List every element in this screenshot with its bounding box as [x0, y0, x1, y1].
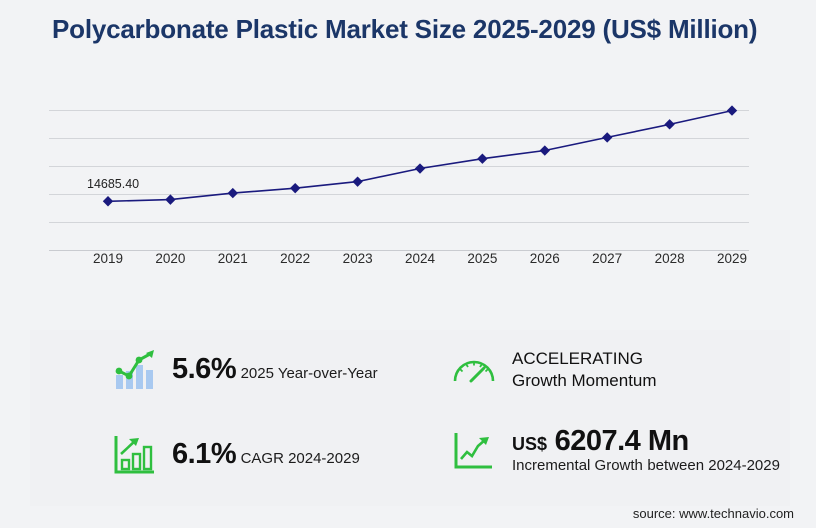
metric-amount: 6207.4 Mn	[555, 425, 689, 457]
data-point-2020	[165, 194, 175, 204]
x-tick-2020: 2020	[140, 251, 200, 266]
bar-line-growth-icon	[110, 345, 158, 393]
metric-caption-line2: between 2024-2029	[647, 457, 780, 474]
data-point-2023	[352, 176, 362, 186]
metric-value: US$ 6207.4 Mn	[512, 425, 689, 457]
data-label-2019: 14685.40	[87, 177, 139, 191]
metric-growth-momentum: ACCELERATING Growth Momentum	[450, 346, 790, 394]
page-title: Polycarbonate Plastic Market Size 2025-2…	[52, 14, 757, 45]
x-tick-2019: 2019	[78, 251, 138, 266]
data-point-2025	[477, 154, 487, 164]
chart-plot-area: 14685.40	[49, 88, 749, 253]
data-point-2019	[103, 196, 113, 206]
metric-caption: CAGR 2024-2029	[241, 450, 360, 467]
x-tick-2029: 2029	[702, 251, 762, 266]
metric-value: 5.6%	[172, 353, 236, 385]
data-point-2029	[727, 105, 737, 115]
metric-text: ACCELERATING Growth Momentum	[512, 348, 790, 392]
x-tick-2026: 2026	[515, 251, 575, 266]
source-attribution: source: www.technavio.com	[633, 506, 794, 521]
metric-heading: ACCELERATING	[512, 349, 643, 368]
metric-cagr: 6.1% CAGR 2024-2029	[110, 430, 360, 478]
metric-text: 5.6% 2025 Year-over-Year	[172, 354, 378, 384]
metric-year-over-year: 5.6% 2025 Year-over-Year	[110, 345, 378, 393]
data-point-2022	[290, 183, 300, 193]
trend-line-icon	[450, 427, 498, 475]
data-point-2021	[228, 188, 238, 198]
x-tick-2022: 2022	[265, 251, 325, 266]
x-tick-2028: 2028	[640, 251, 700, 266]
series-polycarbonate-market-size	[49, 88, 749, 253]
key-metrics-panel: 5.6% 2025 Year-over-Year ACCELERATING	[30, 330, 790, 506]
metric-caption: 2025 Year-over-Year	[241, 365, 378, 382]
metric-caption-line1: Incremental Growth	[512, 457, 643, 474]
speedometer-icon	[450, 346, 498, 394]
bar-chart-arrow-icon	[110, 430, 158, 478]
metric-value: 6.1%	[172, 438, 236, 470]
metric-text: 6.1% CAGR 2024-2029	[172, 439, 360, 469]
x-tick-2027: 2027	[577, 251, 637, 266]
x-tick-2024: 2024	[390, 251, 450, 266]
data-point-2024	[415, 163, 425, 173]
metric-text: US$ 6207.4 Mn Incremental Growth between…	[512, 426, 790, 476]
data-point-2026	[540, 145, 550, 155]
x-tick-2021: 2021	[203, 251, 263, 266]
data-point-2028	[664, 119, 674, 129]
x-tick-2023: 2023	[328, 251, 388, 266]
x-tick-2025: 2025	[452, 251, 512, 266]
data-point-2027	[602, 132, 612, 142]
infographic-root: Polycarbonate Plastic Market Size 2025-2…	[0, 0, 816, 528]
metric-incremental-growth: US$ 6207.4 Mn Incremental Growth between…	[450, 426, 790, 476]
x-axis-tick-labels: 2019202020212022202320242025202620272028…	[49, 251, 749, 281]
market-size-line-chart: 14685.40 2019202020212022202320242025202…	[0, 88, 816, 273]
metric-caption: Growth Momentum	[512, 371, 657, 390]
metric-unit: US$	[512, 434, 547, 454]
